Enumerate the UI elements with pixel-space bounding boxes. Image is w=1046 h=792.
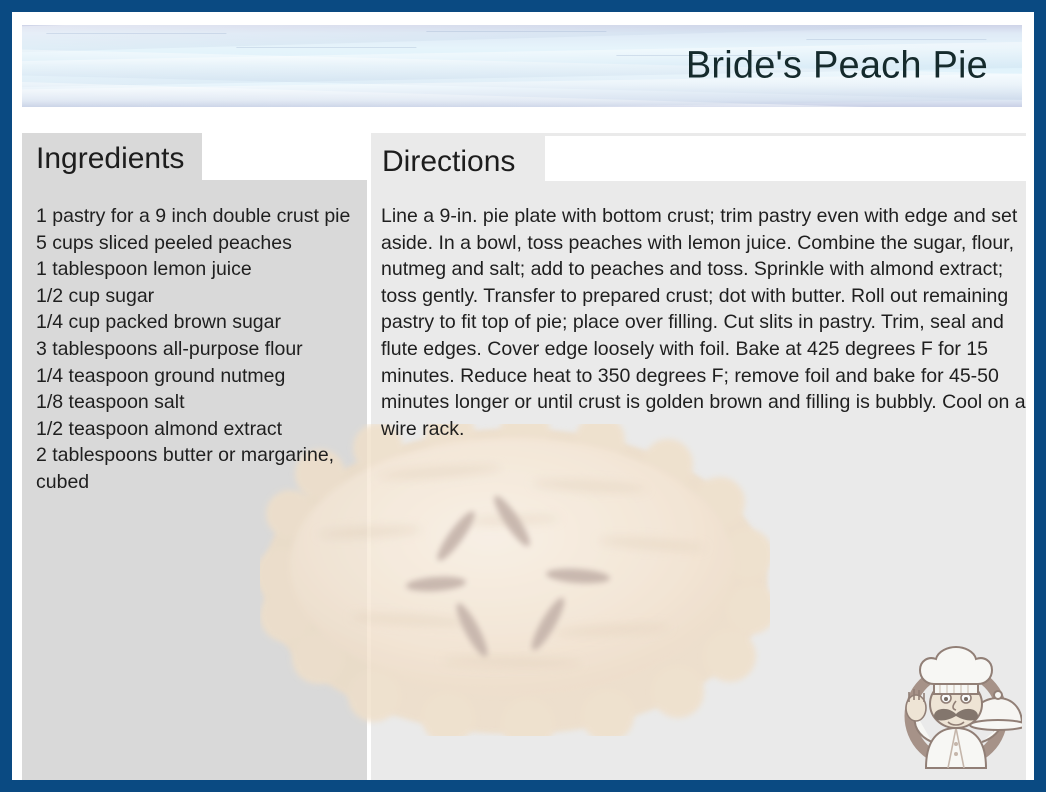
ingredients-tab-notch [202,133,367,180]
ingredient-item: 5 cups sliced peeled peaches [36,230,358,257]
ingredient-item: 1/2 teaspoon almond extract [36,416,358,443]
banner-chevron [236,47,448,88]
directions-tab-notch [545,136,1026,181]
ingredient-item: 1 tablespoon lemon juice [36,256,358,283]
chef-logo-icon [890,644,1022,770]
recipe-card: Bride's Peach Pie Ingredients Directions [0,0,1046,792]
ingredients-heading: Ingredients [36,142,184,176]
ingredient-item: 1/2 cup sugar [36,283,358,310]
ingredient-item: 1 pastry for a 9 inch double crust pie [36,203,358,230]
ingredient-item: 1/4 teaspoon ground nutmeg [36,363,358,390]
ingredient-item: 1/8 teaspoon salt [36,389,358,416]
header-banner: Bride's Peach Pie [22,25,1022,107]
ingredients-list: 1 pastry for a 9 inch double crust pie5 … [36,203,358,496]
ingredient-item: 3 tablespoons all-purpose flour [36,336,358,363]
banner-chevron [46,33,258,74]
directions-heading: Directions [382,145,515,179]
banner-chevron [426,31,638,72]
directions-text: Line a 9-in. pie plate with bottom crust… [381,203,1029,442]
ingredient-item: 2 tablespoons butter or margarine, cubed [36,442,358,495]
ingredient-item: 1/4 cup packed brown sugar [36,309,358,336]
page-title: Bride's Peach Pie [686,45,988,88]
